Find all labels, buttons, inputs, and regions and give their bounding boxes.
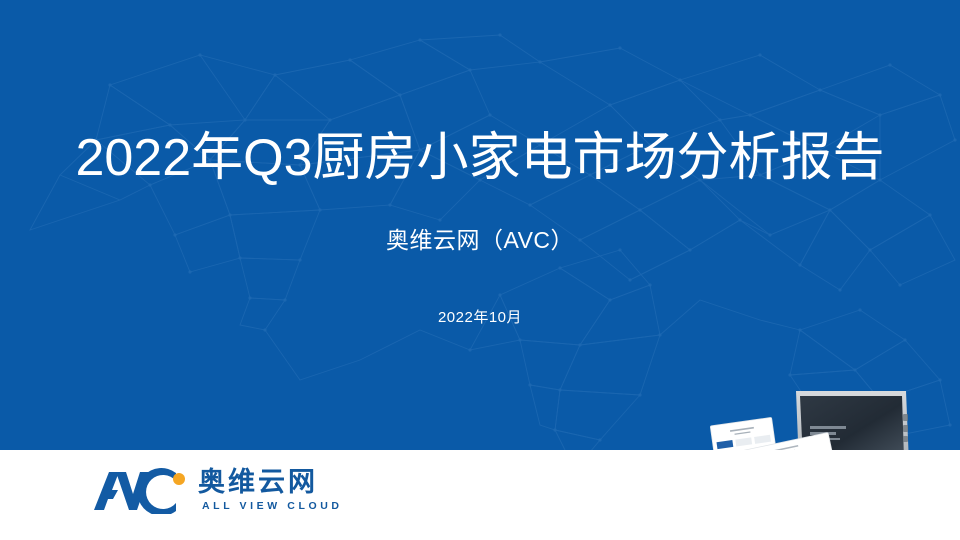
page-title: 2022年Q3厨房小家电市场分析报告: [0, 128, 960, 188]
page-subtitle: 奥维云网（AVC）: [0, 225, 960, 255]
avc-logo: 奥维云网 ALL VIEW CLOUD: [92, 464, 352, 520]
cover-background: 2022年Q3厨房小家电市场分析报告 奥维云网（AVC） 2022年10月: [0, 0, 960, 450]
avc-logo-chinese-name: 奥维云网: [198, 467, 318, 497]
slide-footer: 奥维云网 ALL VIEW CLOUD: [0, 450, 960, 540]
page-date: 2022年10月: [0, 308, 960, 328]
cover-text-block: 2022年Q3厨房小家电市场分析报告 奥维云网（AVC） 2022年10月: [0, 0, 960, 450]
avc-logo-mark-icon: [92, 468, 192, 514]
title-slide: 2022年Q3厨房小家电市场分析报告 奥维云网（AVC） 2022年10月: [0, 0, 960, 540]
avc-logo-english-name: ALL VIEW CLOUD: [202, 500, 343, 512]
